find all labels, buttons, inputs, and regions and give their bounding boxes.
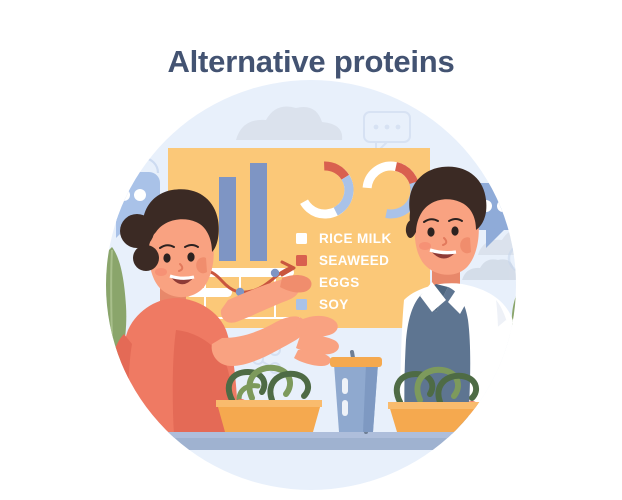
bar-3 <box>250 163 267 261</box>
line-marker <box>271 269 279 277</box>
plant-leaves-right <box>506 282 586 442</box>
legend-swatch <box>296 255 307 266</box>
hair-lower <box>133 245 159 271</box>
illustration-canvas: Alternative proteins <box>0 0 622 500</box>
illustration-artwork: RICE MILK SEAWEED EGGS SOY <box>0 0 622 500</box>
legend-label: RICE MILK <box>319 231 392 246</box>
hair-bun <box>120 214 154 248</box>
legend-label: EGGS <box>319 275 360 290</box>
table-surface <box>70 432 552 450</box>
legend-swatch <box>296 233 307 244</box>
cup-lid <box>330 357 382 367</box>
legend-item[interactable]: SOY <box>296 297 349 312</box>
legend-swatch <box>296 299 307 310</box>
bar-2 <box>219 177 236 261</box>
legend-label: SEAWEED <box>319 253 389 268</box>
legend-label: SOY <box>319 297 349 312</box>
